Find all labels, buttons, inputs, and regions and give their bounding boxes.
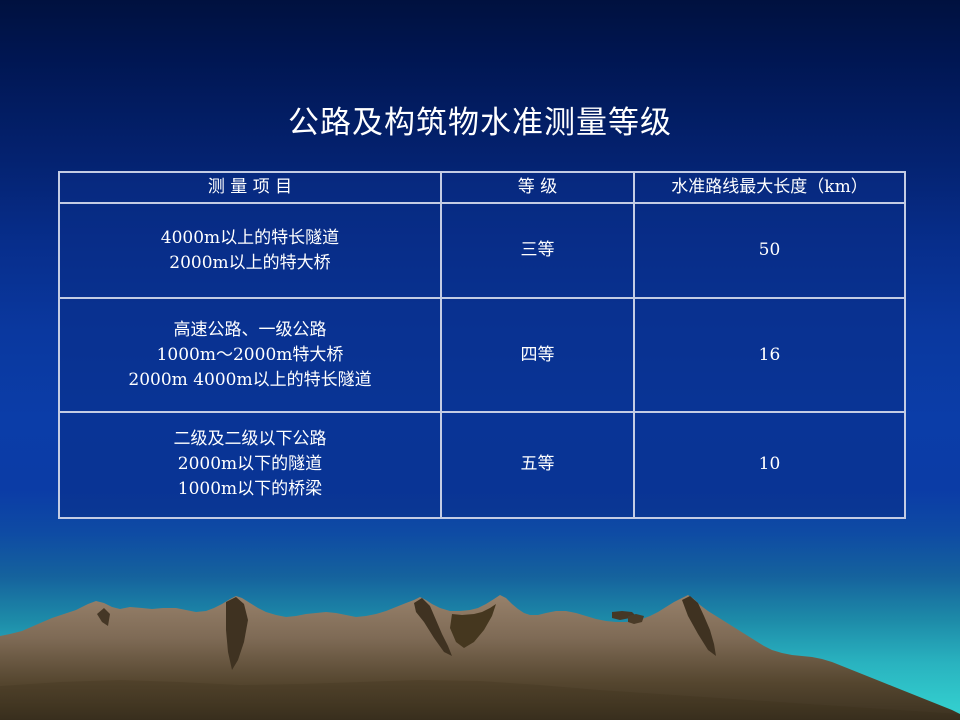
item-line: 1000m～2000m特大桥 [64, 343, 436, 368]
item-line: 1000m以下的桥梁 [64, 477, 436, 502]
table-header-row: 测 量 项 目 等 级 水准路线最大长度（km） [59, 172, 905, 203]
cell-grade: 五等 [441, 412, 634, 518]
presentation-slide: 公路及构筑物水准测量等级 测 量 项 目 等 级 水准路线最大长度（km） 40 [0, 0, 960, 720]
item-line: 2000m以上的特大桥 [64, 251, 436, 276]
table-row: 高速公路、一级公路 1000m～2000m特大桥 2000m 4000m以上的特… [59, 298, 905, 411]
table-row: 二级及二级以下公路 2000m以下的隧道 1000m以下的桥梁 五等 10 [59, 412, 905, 518]
table-row: 4000m以上的特长隧道 2000m以上的特大桥 三等 50 [59, 203, 905, 298]
grade-table-container: 测 量 项 目 等 级 水准路线最大长度（km） 4000m以上的特长隧道 20… [58, 171, 904, 519]
cell-max-length: 16 [634, 298, 905, 411]
mountain-range-illustration [0, 590, 960, 720]
cell-survey-item: 二级及二级以下公路 2000m以下的隧道 1000m以下的桥梁 [59, 412, 441, 518]
item-line: 2000m 4000m以上的特长隧道 [64, 368, 436, 393]
water-level-grade-table: 测 量 项 目 等 级 水准路线最大长度（km） 4000m以上的特长隧道 20… [58, 171, 906, 519]
page-title: 公路及构筑物水准测量等级 [0, 104, 960, 142]
column-header-survey-item: 测 量 项 目 [59, 172, 441, 203]
cell-survey-item: 高速公路、一级公路 1000m～2000m特大桥 2000m 4000m以上的特… [59, 298, 441, 411]
column-header-grade: 等 级 [441, 172, 634, 203]
cell-survey-item: 4000m以上的特长隧道 2000m以上的特大桥 [59, 203, 441, 298]
item-line: 2000m以下的隧道 [64, 452, 436, 477]
cell-grade: 三等 [441, 203, 634, 298]
column-header-max-length: 水准路线最大长度（km） [634, 172, 905, 203]
item-line: 二级及二级以下公路 [64, 427, 436, 452]
cell-grade: 四等 [441, 298, 634, 411]
cell-max-length: 10 [634, 412, 905, 518]
item-line: 4000m以上的特长隧道 [64, 226, 436, 251]
cell-max-length: 50 [634, 203, 905, 298]
item-line: 高速公路、一级公路 [64, 318, 436, 343]
